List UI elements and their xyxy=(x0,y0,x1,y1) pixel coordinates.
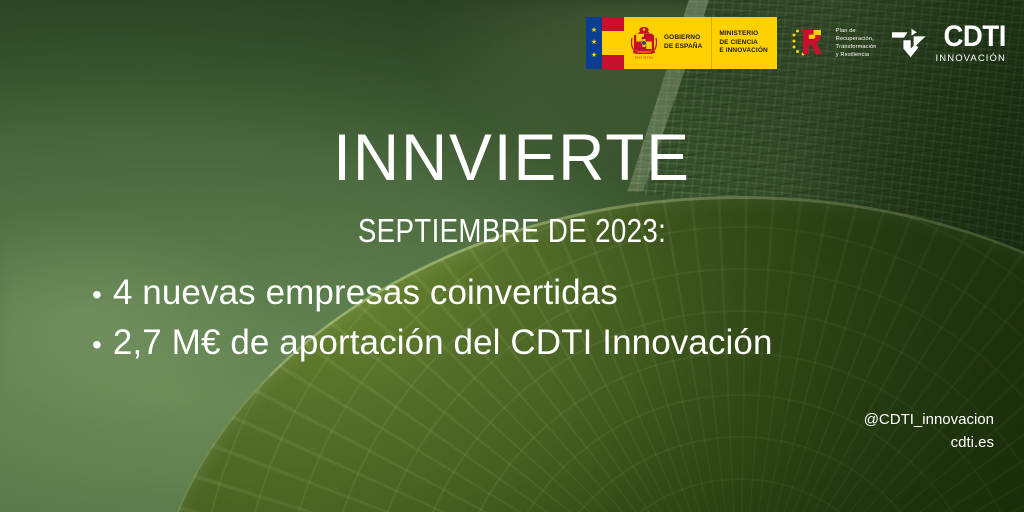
cdti-name: CDTI xyxy=(943,23,1006,51)
ministerio-label: MINISTERIO DE CIENCIA E INNOVACIÓN xyxy=(719,30,767,56)
cdti-arrow-check-icon xyxy=(891,27,929,59)
cdti-logo: CDTI INNOVACIÓN xyxy=(891,23,1006,64)
gobierno-de-espana-logo: ★ ★ ★ xyxy=(586,17,777,69)
list-item: • 4 nuevas empresas coinvertidas xyxy=(92,268,773,318)
social-handle[interactable]: @CDTI_innovacion xyxy=(864,409,994,432)
eu-star-icon: ★ xyxy=(591,28,597,34)
bullet-marker-icon: • xyxy=(92,281,102,309)
poster-canvas: ★ ★ ★ xyxy=(0,0,1024,512)
cdti-wordmark: CDTI INNOVACIÓN xyxy=(936,23,1006,64)
list-item: • 2,7 M€ de aportación del CDTI Innovaci… xyxy=(92,318,773,368)
bullet-marker-icon: • xyxy=(92,331,102,359)
page-title: INNVIERTE xyxy=(15,124,1008,190)
gobierno-label: GOBIERNO DE ESPAÑA xyxy=(664,34,702,51)
subtitle-date: SEPTIEMBRE DE 2023: xyxy=(82,214,942,247)
svg-text:PLVS VLTRA: PLVS VLTRA xyxy=(635,55,654,59)
cdti-subtitle: INNOVACIÓN xyxy=(936,53,1006,64)
gobierno-cell: PLVS VLTRA GOBIERNO DE ESPAÑA xyxy=(624,17,711,69)
spain-flag-icon xyxy=(602,17,624,69)
ministerio-cell: MINISTERIO DE CIENCIA E INNOVACIÓN xyxy=(711,17,776,69)
prtr-r-mark-icon xyxy=(791,26,831,60)
eu-flag-icon: ★ ★ ★ xyxy=(586,17,602,69)
list-item-label: 2,7 M€ de aportación del CDTI Innovación xyxy=(113,318,773,368)
spanish-coat-of-arms-icon: PLVS VLTRA xyxy=(631,25,657,61)
institutional-logo-bar: ★ ★ ★ xyxy=(586,16,1006,70)
footer-contact: @CDTI_innovacion cdti.es xyxy=(864,409,994,454)
prtr-label: Plan de Recuperación, Transformación y R… xyxy=(836,27,877,59)
spain-eu-flag-icon: ★ ★ ★ xyxy=(586,17,624,69)
eu-star-icon: ★ xyxy=(591,40,597,46)
highlights-list: • 4 nuevas empresas coinvertidas • 2,7 M… xyxy=(92,268,773,369)
list-item-label: 4 nuevas empresas coinvertidas xyxy=(113,268,618,318)
eu-star-icon: ★ xyxy=(591,53,597,59)
website-link[interactable]: cdti.es xyxy=(864,432,994,455)
plan-recuperacion-logo: Plan de Recuperación, Transformación y R… xyxy=(791,26,877,60)
